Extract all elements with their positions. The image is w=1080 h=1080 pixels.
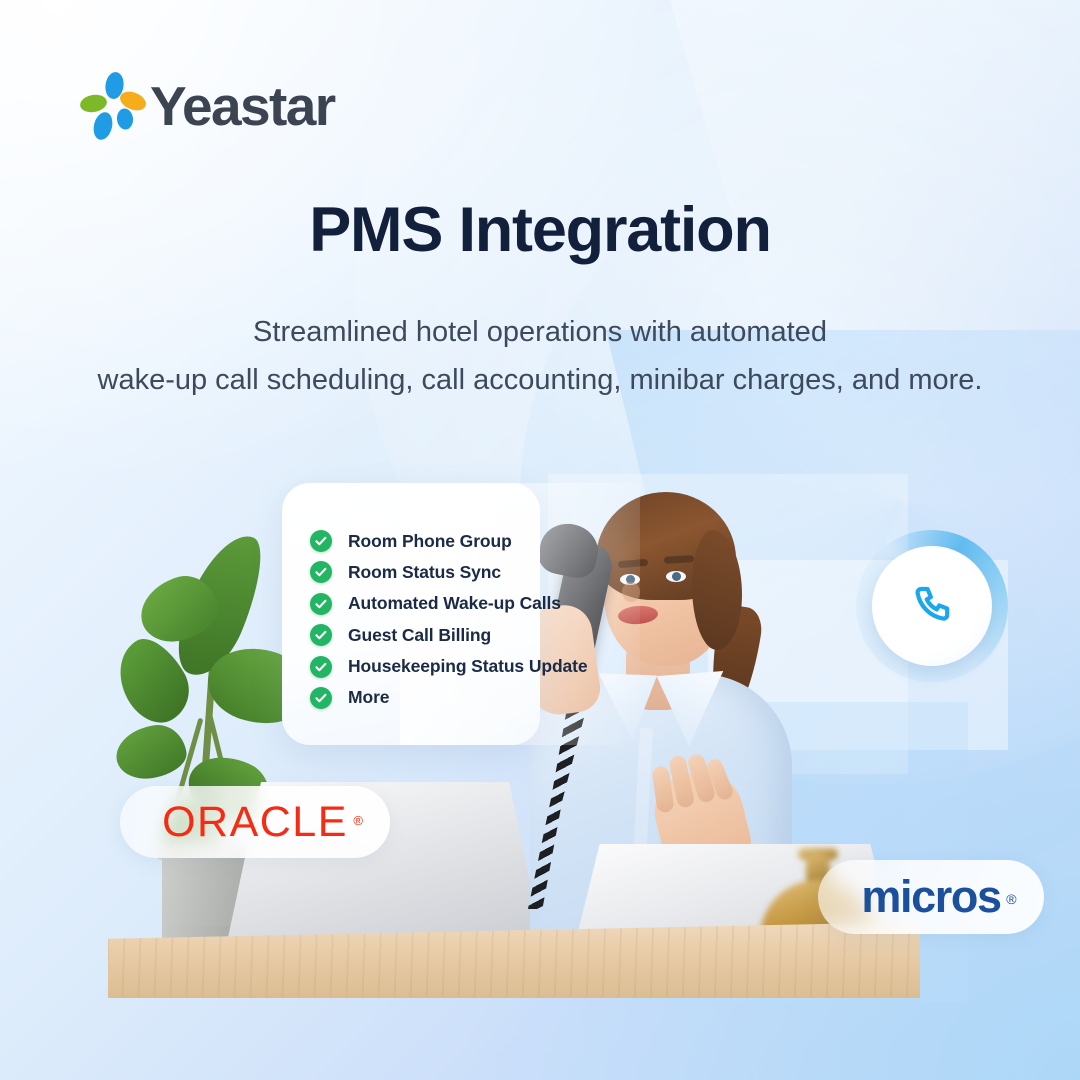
feature-label: More xyxy=(348,687,389,708)
feature-label: Housekeeping Status Update xyxy=(348,656,588,677)
oracle-wordmark: ORACLE xyxy=(162,798,348,846)
feature-label: Room Phone Group xyxy=(348,531,512,552)
feature-label: Guest Call Billing xyxy=(348,625,491,646)
micros-logo-badge: micros® xyxy=(818,860,1044,934)
brand-logo: Yeastar xyxy=(78,64,378,148)
feature-label: Room Status Sync xyxy=(348,562,501,583)
page-title: PMS Integration xyxy=(0,194,1080,266)
list-item: Guest Call Billing xyxy=(310,624,730,646)
list-item: Automated Wake-up Calls xyxy=(310,593,730,615)
page-subtitle: Streamlined hotel operations with automa… xyxy=(0,308,1080,404)
list-item: Housekeeping Status Update xyxy=(310,656,730,678)
phone-handset-icon xyxy=(908,582,956,630)
phone-badge xyxy=(856,530,1008,682)
oracle-logo-icon: ORACLE® xyxy=(162,800,348,844)
micros-wordmark: micros xyxy=(861,871,1000,922)
yeastar-petal-logo-icon xyxy=(78,70,150,142)
micros-logo-icon: micros® xyxy=(861,874,1000,920)
feature-label: Automated Wake-up Calls xyxy=(348,593,561,614)
registered-trademark: ® xyxy=(353,799,363,843)
subtitle-line-2: wake-up call scheduling, call accounting… xyxy=(0,356,1080,404)
check-circle-icon xyxy=(310,656,332,678)
oracle-logo-badge: ORACLE® xyxy=(120,786,390,858)
check-circle-icon xyxy=(310,624,332,646)
list-item: Room Status Sync xyxy=(310,561,730,583)
registered-trademark: ® xyxy=(1006,876,1016,922)
promo-graphic: Yeastar PMS Integration Streamlined hote… xyxy=(0,0,1080,1080)
brand-wordmark: Yeastar xyxy=(150,76,335,136)
check-circle-icon xyxy=(310,561,332,583)
check-circle-icon xyxy=(310,687,332,709)
check-circle-icon xyxy=(310,530,332,552)
list-item: Room Phone Group xyxy=(310,530,730,552)
check-circle-icon xyxy=(310,593,332,615)
feature-list: Room Phone Group Room Status Sync Automa… xyxy=(310,530,730,718)
list-item: More xyxy=(310,687,730,709)
subtitle-line-1: Streamlined hotel operations with automa… xyxy=(0,308,1080,356)
